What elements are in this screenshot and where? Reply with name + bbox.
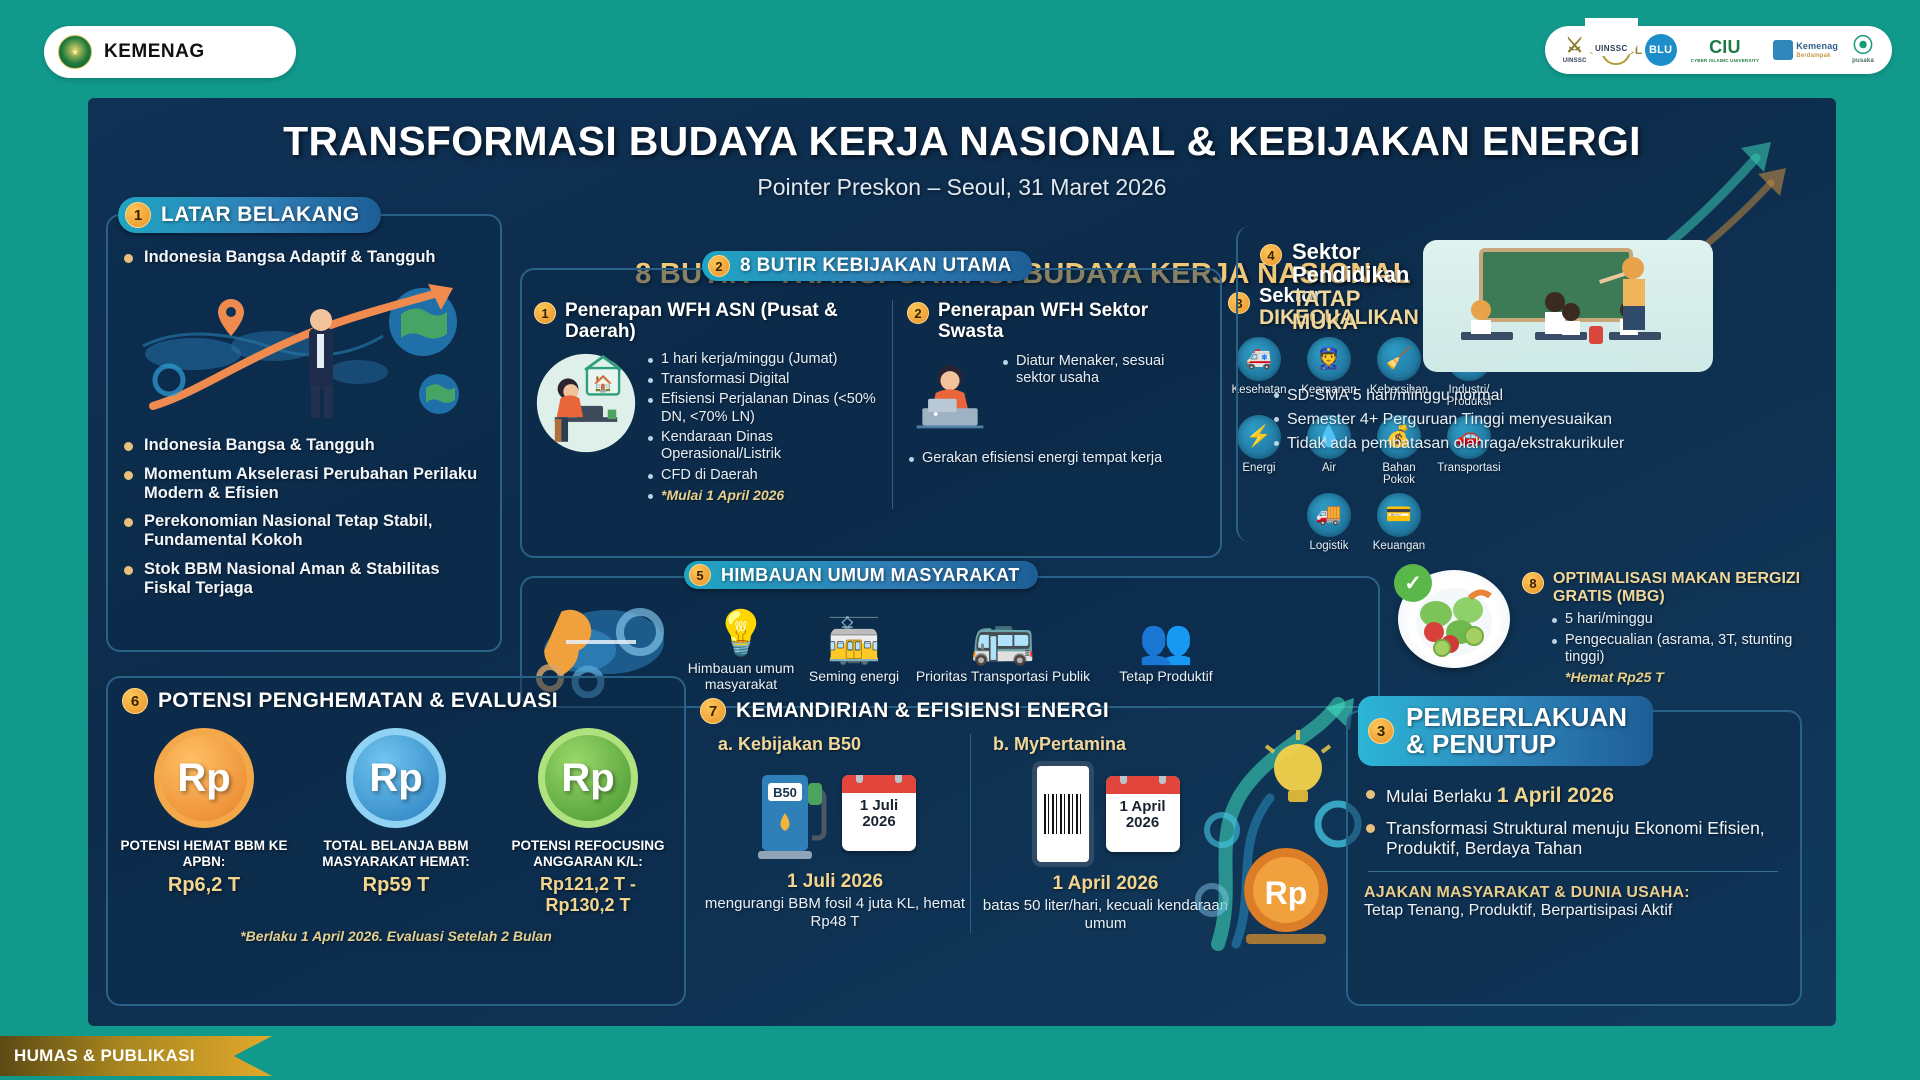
list-item: Perekonomian Nasional Tetap Stabil, Fund… bbox=[122, 512, 484, 551]
sektor-pendidikan-number: 4 bbox=[1260, 244, 1282, 266]
himbauan-number: 5 bbox=[689, 564, 711, 586]
himbauan-item-tetap-produktif[interactable]: 👥 Tetap Produktif bbox=[1102, 612, 1230, 684]
svg-text:B50: B50 bbox=[773, 785, 797, 800]
rupiah-coin-blue-icon: Rp bbox=[346, 728, 446, 828]
list-item: CFD di Daerah bbox=[646, 467, 884, 484]
rupiah-coin-orange-icon: Rp bbox=[154, 728, 254, 828]
mbg-bullets: 5 hari/minggu Pengecualian (asrama, 3T, … bbox=[1550, 611, 1808, 666]
himbauan-heading: 5 HIMBAUAN UMUM MASYARAKAT bbox=[684, 561, 1038, 589]
list-item: 5 hari/minggu bbox=[1550, 611, 1808, 628]
list-item: 1 hari kerja/minggu (Jumat) bbox=[646, 351, 884, 368]
energi-b50-date: 1 Juli 2026 bbox=[700, 871, 970, 893]
penutup-number: 3 bbox=[1368, 718, 1394, 744]
kebijakan-item-1: 1 Penerapan WFH ASN (Pusat & Daerah) 🏠 bbox=[534, 300, 884, 509]
energi-col-b50: a. Kebijakan B50 B50 bbox=[700, 734, 970, 933]
people-working-icon: 👥 bbox=[1139, 612, 1194, 664]
svg-text:🏠: 🏠 bbox=[593, 373, 613, 392]
fuel-pump-icon: B50 bbox=[754, 761, 832, 865]
kebijakan-utama-heading: 2 8 BUTIR KEBIJAKAN UTAMA bbox=[702, 251, 1032, 281]
mbg-note: *Hemat Rp25 T bbox=[1565, 669, 1808, 685]
energi-number: 7 bbox=[700, 698, 726, 724]
kebijakan-item-1-note: *Mulai 1 April 2026 bbox=[661, 487, 784, 503]
list-item: Efisiensi Perjalanan Dinas (<50% DN, <70… bbox=[646, 391, 884, 426]
list-item: Indonesia Bangsa & Tangguh bbox=[122, 436, 484, 455]
kebijakan-item-2-number: 2 bbox=[907, 302, 929, 324]
salad-plate-check-illustration: ✓ bbox=[1398, 570, 1510, 668]
lightbulb-icon: 💡 bbox=[714, 604, 769, 656]
potensi-card-refocusing: Rp POTENSI REFOCUSING ANGGARAN K/L: Rp12… bbox=[503, 728, 673, 916]
panel-latar-belakang: 1 LATAR BELAKANG Indonesia Bangsa Adapti… bbox=[106, 214, 502, 652]
kebijakan-item-1-bullets: 1 hari kerja/minggu (Jumat) Transformasi… bbox=[646, 351, 884, 509]
cyber-islamic-university-logo: CIU CYBER ISLAMIC UNIVERSITY bbox=[1691, 38, 1760, 63]
pusaka-drop-icon: ⦿ bbox=[1853, 36, 1873, 56]
himbauan-item-transportasi-publik[interactable]: 🚌 Prioritas Transportasi Publik bbox=[908, 612, 1098, 684]
potensi-note: *Berlaku 1 April 2026. Evaluasi Setelah … bbox=[108, 928, 684, 944]
sektor-pendidikan-bullets: SD-SMA 5 hari/minggu normal Semester 4+ … bbox=[1272, 386, 1790, 454]
list-item: Tidak ada pembatasan olahraga/ekstrakuri… bbox=[1272, 434, 1790, 453]
potensi-card-belanja-bbm: Rp TOTAL BELANJA BBM MASYARAKAT HEMAT: R… bbox=[311, 728, 481, 916]
smartphone-barcode-icon bbox=[1032, 761, 1094, 867]
list-item: Mulai Berlaku 1 April 2026 bbox=[1364, 784, 1782, 809]
himbauan-item-seming-energi[interactable]: 🚋 Seming energi bbox=[804, 612, 904, 684]
latar-belakang-number: 1 bbox=[125, 202, 151, 228]
potensi-card-apbn: Rp POTENSI HEMAT BBM KE APBN: Rp6,2 T bbox=[119, 728, 289, 916]
uinssc-badge: UINSSC bbox=[1585, 18, 1638, 56]
list-item: Momentum Akselerasi Perubahan Perilaku M… bbox=[122, 465, 484, 504]
potensi-coin-row: Rp POTENSI HEMAT BBM KE APBN: Rp6,2 T Rp… bbox=[108, 728, 684, 916]
classroom-teacher-students-illustration bbox=[1423, 240, 1713, 372]
penutup-heading: 3 PEMBERLAKUAN & PENUTUP bbox=[1358, 696, 1800, 766]
divider bbox=[1368, 871, 1778, 872]
barcode-icon bbox=[1044, 794, 1082, 834]
mbg-number: 8 bbox=[1522, 572, 1544, 594]
svg-text:Rp: Rp bbox=[1265, 875, 1308, 911]
list-item: Semester 4+ Perguruan Tinggi menyesuaika… bbox=[1272, 410, 1790, 429]
rupiah-coin-green-icon: Rp bbox=[538, 728, 638, 828]
calendar-icon: 1 Juli 2026 bbox=[842, 775, 916, 851]
potensi-number: 6 bbox=[122, 688, 148, 714]
page-title: TRANSFORMASI BUDAYA KERJA NASIONAL & KEB… bbox=[88, 118, 1836, 165]
kebijakan-item-2: 2 Penerapan WFH Sektor Swasta bbox=[892, 300, 1202, 509]
panel-potensi-penghematan: 6 POTENSI PENGHEMATAN & EVALUASI Rp POTE… bbox=[106, 676, 686, 1006]
list-item: Indonesia Bangsa Adaptif & Tangguh bbox=[122, 248, 484, 267]
potensi-title: POTENSI PENGHEMATAN & EVALUASI bbox=[158, 689, 558, 713]
sektor-pendidikan-title: Sektor Pendidikan TATAP MUKA bbox=[1292, 240, 1409, 372]
himbauan-item-umum[interactable]: 💡 Himbauan umum masyarakat bbox=[682, 604, 800, 692]
energi-b50-desc: mengurangi BBM fosil 4 juta KL, hemat Rp… bbox=[700, 895, 970, 931]
energi-title: KEMANDIRIAN & EFISIENSI ENERGI bbox=[736, 699, 1109, 723]
check-icon: ✓ bbox=[1394, 564, 1432, 602]
kemenag-brand-pill[interactable]: ★ KEMENAG bbox=[44, 26, 296, 78]
kemenag-label: KEMENAG bbox=[104, 41, 205, 63]
list-item: Transformasi Struktural menuju Ekonomi E… bbox=[1364, 818, 1782, 859]
list-item: Stok BBM Nasional Aman & Stabilitas Fisk… bbox=[122, 560, 484, 599]
kebijakan-item-1-number: 1 bbox=[534, 302, 556, 324]
latar-belakang-heading: 1 LATAR BELAKANG bbox=[118, 197, 381, 233]
list-item: Pengecualian (asrama, 3T, stunting tingg… bbox=[1550, 632, 1808, 667]
list-item: Transformasi Digital bbox=[646, 371, 884, 388]
list-item: Kendaraan Dinas Operasional/Listrik bbox=[646, 429, 884, 464]
penutup-cta-text: Tetap Tenang, Produktif, Berpartisipasi … bbox=[1364, 902, 1782, 920]
bus-icon: 🚌 bbox=[971, 612, 1036, 664]
list-item: Gerakan efisiensi energi tempat kerja bbox=[907, 450, 1202, 467]
woman-working-from-home-illustration: 🏠 bbox=[534, 351, 638, 509]
blu-logo: BLU bbox=[1645, 34, 1677, 66]
humas-publikasi-banner: HUMAS & PUBLIKASI bbox=[0, 1036, 272, 1076]
penutup-cta-heading: AJAKAN MASYARAKAT & DUNIA USAHA: bbox=[1364, 884, 1782, 902]
kebijakan-item-2-bullets: Diatur Menaker, sesuai sektor usaha bbox=[1001, 353, 1202, 440]
kemenag-emblem-icon: ★ bbox=[58, 35, 92, 69]
latar-belakang-top-bullet-list: Indonesia Bangsa Adaptif & Tangguh bbox=[122, 248, 484, 267]
kebijakan-item-2-title: Penerapan WFH Sektor Swasta bbox=[938, 300, 1202, 343]
calendar-icon: 1 April 2026 bbox=[1106, 776, 1180, 852]
mbg-title: OPTIMALISASI MAKAN BERGIZI GRATIS (MBG) bbox=[1553, 570, 1808, 605]
kebijakan-item-1-title: Penerapan WFH ASN (Pusat & Daerah) bbox=[565, 300, 884, 343]
list-item: Diatur Menaker, sesuai sektor usaha bbox=[1001, 353, 1202, 388]
panel-sektor-pendidikan: 4 Sektor Pendidikan TATAP MUKA bbox=[1236, 226, 1806, 542]
indonesia-map-globe-businessman-illustration bbox=[122, 276, 484, 426]
uinssc-logo: ⚔ UINSSC bbox=[1563, 36, 1587, 64]
panel-kebijakan-utama: 2 8 BUTIR KEBIJAKAN UTAMA 1 Penerapan WF… bbox=[520, 268, 1222, 558]
latar-belakang-bullet-list: Indonesia Bangsa & Tangguh Momentum Akse… bbox=[122, 436, 484, 598]
kebijakan-utama-number: 2 bbox=[708, 255, 730, 277]
kemenag-berdampak-logo: Kemenag Berdampak bbox=[1773, 40, 1838, 60]
man-with-laptop-illustration bbox=[907, 353, 993, 440]
panel-pemberlakuan-penutup: 3 PEMBERLAKUAN & PENUTUP Mulai Berlaku 1… bbox=[1346, 710, 1802, 1006]
infographic-board: TRANSFORMASI BUDAYA KERJA NASIONAL & KEB… bbox=[88, 98, 1836, 1026]
pusaka-logo: ⦿ pusaka bbox=[1852, 36, 1874, 64]
uinssc-mark-icon: ⚔ bbox=[1566, 36, 1584, 56]
kemenag-berdampak-mark-icon bbox=[1773, 40, 1793, 60]
penutup-bullets: Mulai Berlaku 1 April 2026 Transformasi … bbox=[1364, 784, 1782, 859]
tram-icon: 🚋 bbox=[827, 612, 882, 664]
list-item: SD-SMA 5 hari/minggu normal bbox=[1272, 386, 1790, 405]
